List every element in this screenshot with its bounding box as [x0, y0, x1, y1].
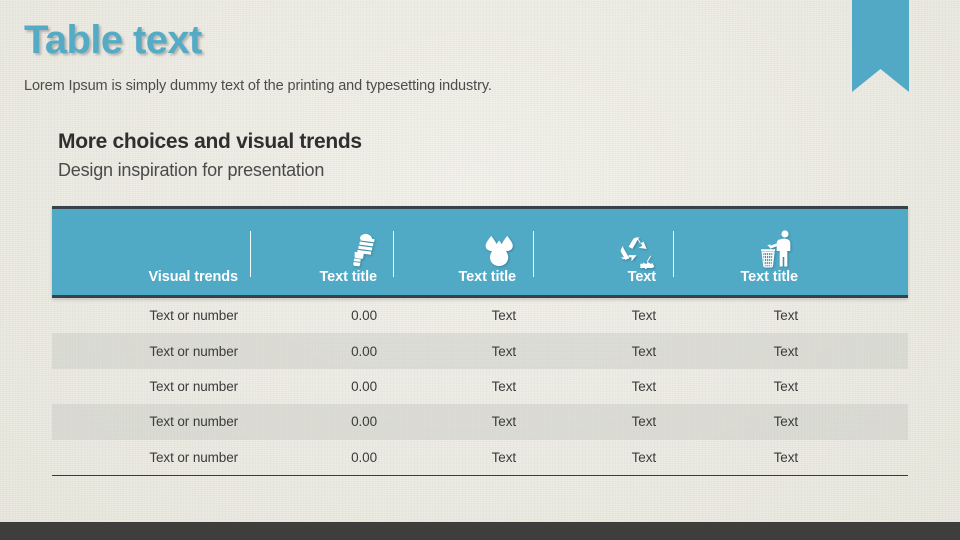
table-cell: Text — [393, 379, 533, 394]
table-cell: Text — [533, 414, 673, 429]
table-row[interactable]: Text or number 0.00 Text Text Text — [52, 369, 908, 404]
table-cell: Text — [393, 308, 533, 323]
table-cell: Text — [673, 308, 814, 323]
bookmark-ribbon-icon — [852, 0, 909, 92]
table-cell: 0.00 — [250, 379, 393, 394]
page-subtitle: Lorem Ipsum is simply dummy text of the … — [24, 78, 492, 94]
table-cell: Text — [393, 450, 533, 465]
table-header-cell-2[interactable]: Text title — [393, 209, 533, 295]
column-divider — [533, 231, 534, 277]
table-header-label: Visual trends — [149, 270, 239, 286]
section-subtitle: Design inspiration for presentation — [58, 160, 324, 181]
table-header-label: Text title — [458, 270, 516, 286]
table-cell: Text — [673, 379, 814, 394]
column-divider — [673, 231, 674, 277]
footer-bar — [0, 522, 960, 540]
table-cell: Text or number — [52, 450, 250, 465]
table-header-label: Text title — [740, 270, 798, 286]
table-cell: Text or number — [52, 308, 250, 323]
water-drops-icon — [482, 227, 516, 269]
cfl-bulb-icon — [345, 227, 377, 269]
table-header-label: Text title — [319, 270, 377, 286]
table-cell: 0.00 — [250, 308, 393, 323]
data-table: Visual trends — [52, 206, 908, 476]
table-header-cell-1[interactable]: Text title — [250, 209, 393, 295]
table-cell: Text — [673, 414, 814, 429]
recycle-icon — [618, 227, 656, 269]
table-cell: Text — [673, 450, 814, 465]
table-cell: Text — [533, 450, 673, 465]
table-header-row: Visual trends — [52, 206, 908, 298]
column-divider — [393, 231, 394, 277]
table-header-cell-0[interactable]: Visual trends — [52, 209, 250, 295]
table-cell: 0.00 — [250, 414, 393, 429]
table-header-cell-4[interactable]: Text title — [673, 209, 814, 295]
table-row[interactable]: Text or number 0.00 Text Text Text — [52, 404, 908, 439]
table-cell: 0.00 — [250, 450, 393, 465]
table-cell: Text — [673, 344, 814, 359]
table-row[interactable]: Text or number 0.00 Text Text Text — [52, 440, 908, 475]
table-cell: Text or number — [52, 344, 250, 359]
table-cell: Text — [393, 414, 533, 429]
table-row[interactable]: Text or number 0.00 Text Text Text — [52, 298, 908, 333]
table-cell: 0.00 — [250, 344, 393, 359]
table-cell: Text — [393, 344, 533, 359]
table-cell: Text or number — [52, 379, 250, 394]
table-body: Text or number 0.00 Text Text Text Text … — [52, 298, 908, 476]
table-header-cell-3[interactable]: Text — [533, 209, 673, 295]
table-cell: Text — [533, 379, 673, 394]
section-title: More choices and visual trends — [58, 130, 362, 154]
slide-canvas: Table text Lorem Ipsum is simply dummy t… — [0, 0, 960, 540]
column-divider — [250, 231, 251, 277]
table-cell: Text — [533, 344, 673, 359]
table-cell: Text or number — [52, 414, 250, 429]
table-header-label: Text — [628, 270, 656, 286]
table-cell: Text — [533, 308, 673, 323]
table-row[interactable]: Text or number 0.00 Text Text Text — [52, 333, 908, 368]
page-title: Table text — [24, 20, 202, 60]
trash-bin-person-icon — [758, 227, 798, 269]
